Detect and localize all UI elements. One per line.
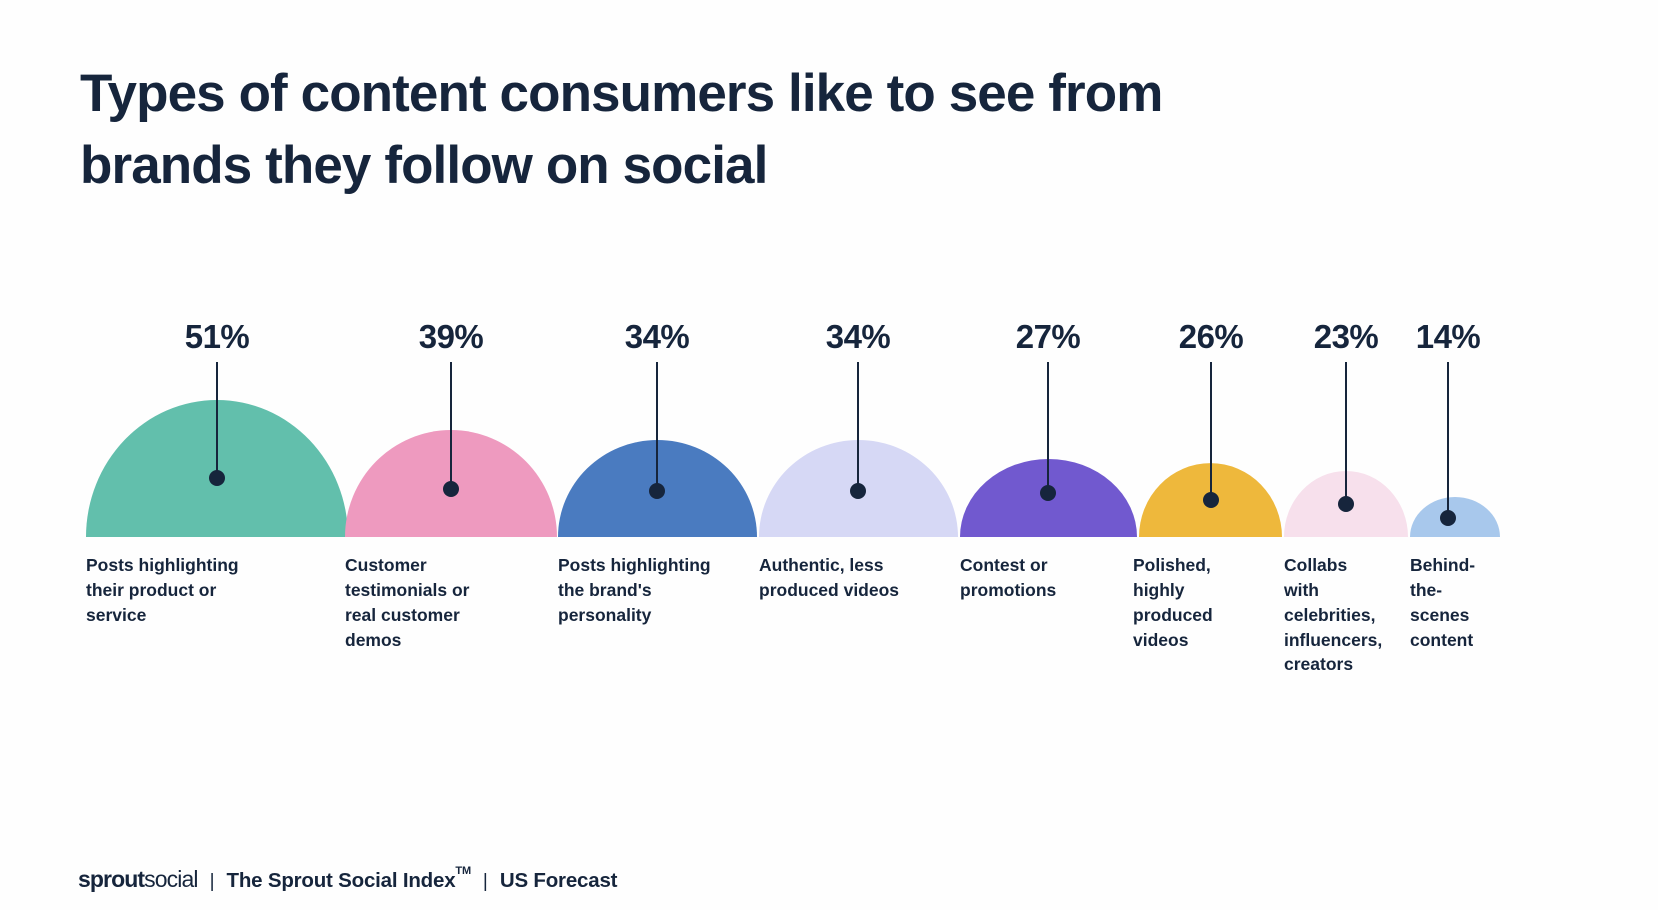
category-label: Contest orpromotions: [960, 553, 1132, 603]
category-label: Authentic, lessproduced videos: [759, 553, 954, 603]
category-label-line: demos: [345, 628, 545, 653]
category-label-line: real customer: [345, 603, 545, 628]
category-label-line: the brand's: [558, 578, 753, 603]
category-label-line: scenes: [1410, 603, 1510, 628]
value-label: 14%: [1416, 318, 1481, 356]
value-dot: [1440, 510, 1456, 526]
value-label: 51%: [185, 318, 250, 356]
category-label-line: Customer: [345, 553, 545, 578]
footer-separator-1: |: [210, 871, 215, 893]
category-label-line: videos: [1133, 628, 1273, 653]
category-label-line: Posts highlighting: [86, 553, 331, 578]
category-label-line: the-: [1410, 578, 1510, 603]
value-dot: [209, 470, 225, 486]
trademark-mark: TM: [455, 865, 470, 877]
category-label: Posts highlightingthe brand'spersonality: [558, 553, 753, 628]
category-label-line: their product or: [86, 578, 331, 603]
value-label: 27%: [1016, 318, 1081, 356]
footer: sproutsocial | The Sprout Social IndexTM…: [78, 866, 617, 893]
value-label: 26%: [1179, 318, 1244, 356]
value-label: 39%: [419, 318, 484, 356]
value-dot: [649, 483, 665, 499]
category-label-line: with: [1284, 578, 1404, 603]
logo-social: social: [144, 866, 197, 892]
value-label: 23%: [1314, 318, 1379, 356]
value-label: 34%: [826, 318, 891, 356]
value-dot: [850, 483, 866, 499]
category-label-line: influencers,: [1284, 628, 1404, 653]
category-label-line: produced videos: [759, 578, 954, 603]
category-label-line: Behind-: [1410, 553, 1510, 578]
category-label-line: promotions: [960, 578, 1132, 603]
category-label-line: service: [86, 603, 331, 628]
category-label-line: content: [1410, 628, 1510, 653]
category-label-line: Polished,: [1133, 553, 1273, 578]
logo-sprout: sprout: [78, 866, 144, 892]
chart-svg: [0, 0, 1658, 910]
category-label-line: creators: [1284, 652, 1404, 677]
category-label-line: produced: [1133, 603, 1273, 628]
category-label: Polished,highlyproducedvideos: [1133, 553, 1273, 652]
value-label: 34%: [625, 318, 690, 356]
category-label-line: celebrities,: [1284, 603, 1404, 628]
value-dot: [1203, 492, 1219, 508]
category-label: Collabswithcelebrities,influencers,creat…: [1284, 553, 1404, 677]
sprout-social-logo: sproutsocial: [78, 866, 198, 893]
category-label-line: Posts highlighting: [558, 553, 753, 578]
category-label-line: testimonials or: [345, 578, 545, 603]
value-dot: [1040, 485, 1056, 501]
category-label-line: Collabs: [1284, 553, 1404, 578]
infographic-canvas: Types of content consumers like to see f…: [0, 0, 1658, 910]
category-label: Behind-the-scenescontent: [1410, 553, 1510, 652]
category-label: Customertestimonials orreal customerdemo…: [345, 553, 545, 652]
value-dot: [1338, 496, 1354, 512]
footer-index-label: The Sprout Social IndexTM: [227, 869, 471, 893]
index-label-text: The Sprout Social Index: [227, 869, 456, 892]
category-label-line: personality: [558, 603, 753, 628]
footer-forecast-label: US Forecast: [500, 869, 617, 893]
category-label-line: Contest or: [960, 553, 1132, 578]
category-label-line: Authentic, less: [759, 553, 954, 578]
category-label-line: highly: [1133, 578, 1273, 603]
footer-separator-2: |: [483, 871, 488, 893]
value-dot: [443, 481, 459, 497]
semicircle-chart: [0, 0, 1658, 910]
category-label: Posts highlightingtheir product orservic…: [86, 553, 331, 628]
